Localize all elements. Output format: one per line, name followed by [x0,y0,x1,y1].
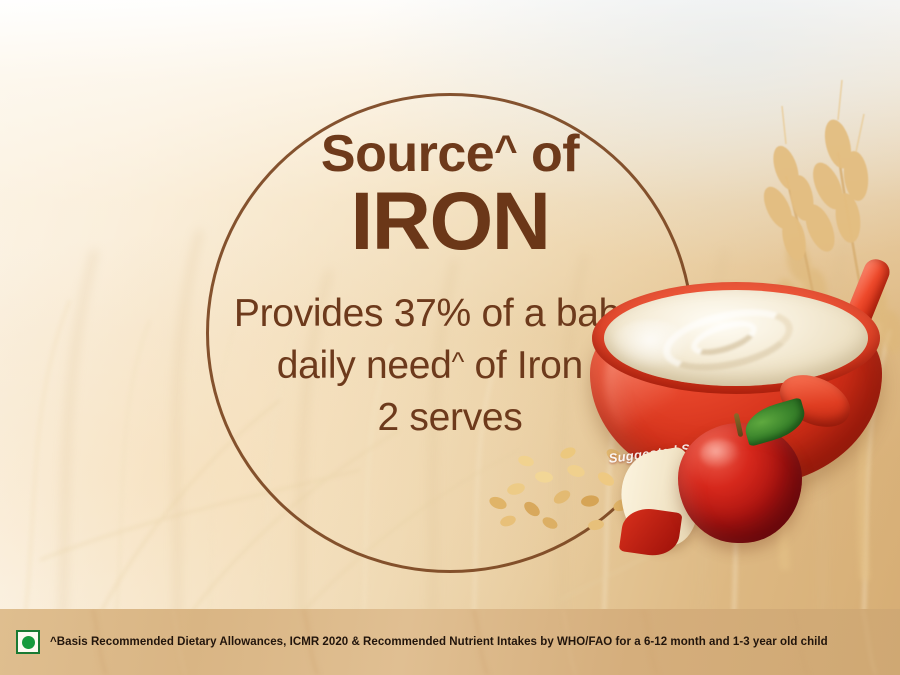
apple-highlight [700,439,740,469]
vegetarian-mark-icon [16,630,40,654]
product-photo-group: Suggested Serving [470,235,900,600]
red-apple [678,423,802,543]
apple-slice-skin [619,505,683,559]
headline-of-word: of [517,125,579,183]
headline-source-line: Source^ of [150,128,750,181]
headline-caret: ^ [494,128,517,172]
vegetarian-green-dot-icon [22,636,35,649]
footer-content: ^Basis Recommended Dietary Allowances, I… [16,630,828,654]
footnote-text: ^Basis Recommended Dietary Allowances, I… [50,636,828,648]
footer-bar: ^Basis Recommended Dietary Allowances, I… [0,609,900,675]
headline-source-word: Source [321,125,494,183]
porridge-surface [604,290,868,386]
body-line-2a: daily need [277,344,452,387]
banner-stage: Source^ of IRON Provides 37% of a baby’s… [0,0,900,675]
body-caret: ^ [452,347,464,377]
